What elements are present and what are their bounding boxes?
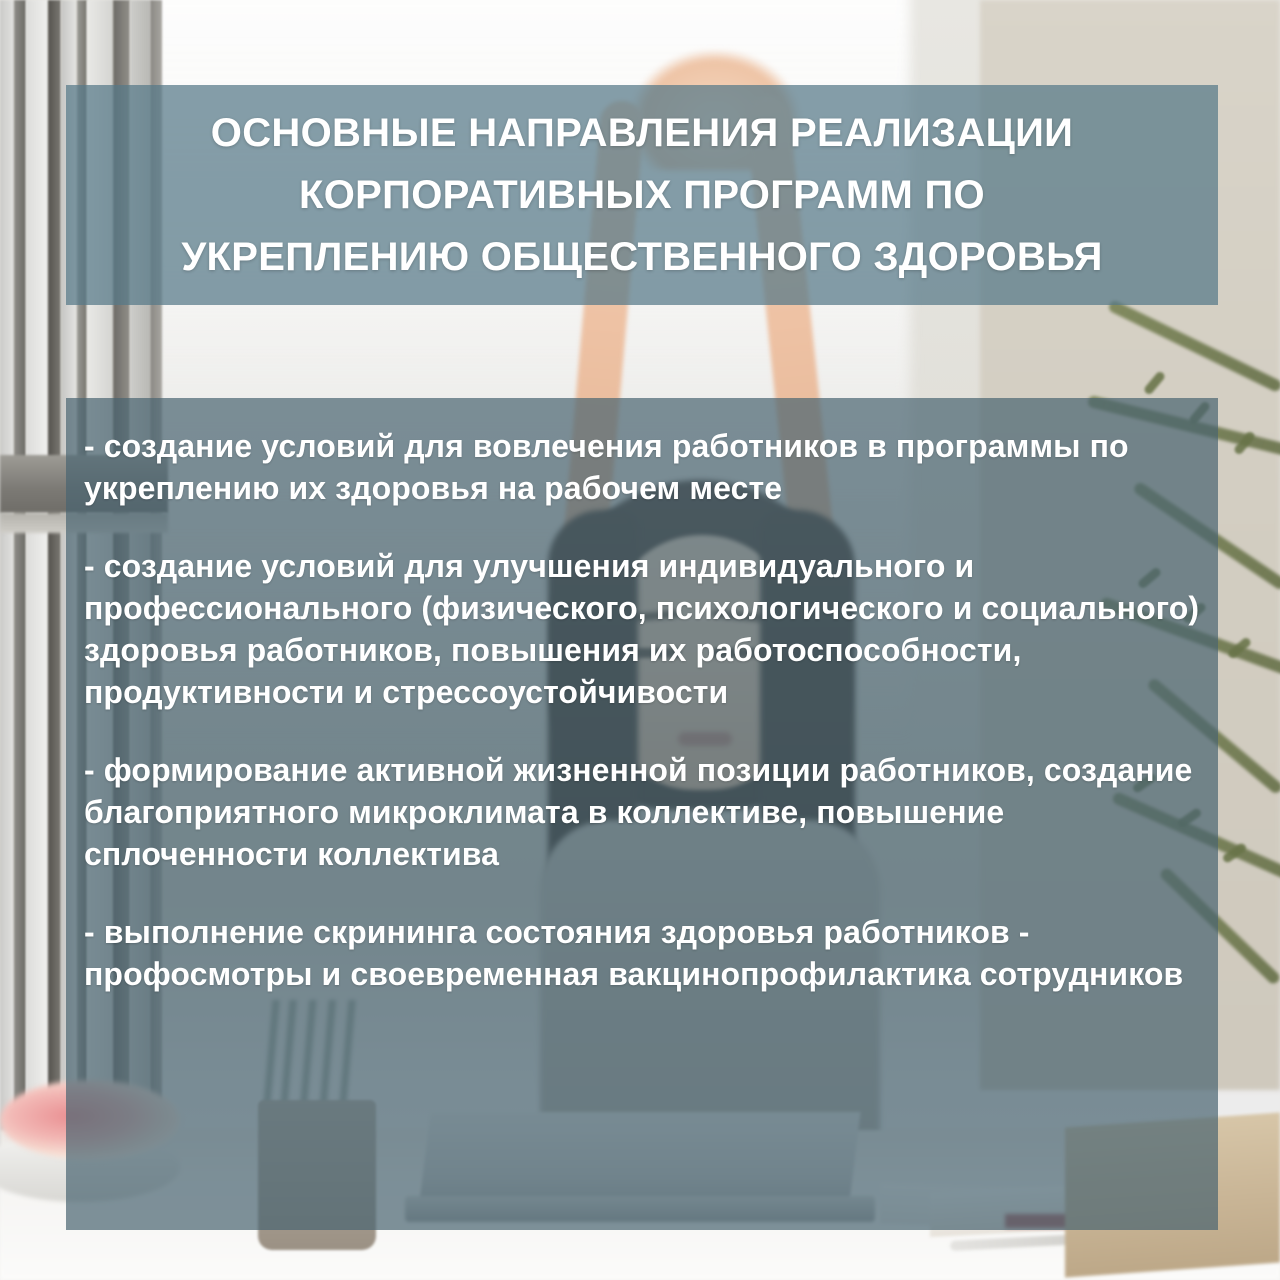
bullet-item: - выполнение скрининга состояния здоровь…: [84, 911, 1204, 995]
bullet-item: - формирование активной жизненной позици…: [84, 749, 1204, 875]
bullet-item: - создание условий для вовлечения работн…: [84, 425, 1204, 509]
title-line-1: ОСНОВНЫЕ НАПРАВЛЕНИЯ РЕАЛИЗАЦИИ: [211, 102, 1073, 164]
bullet-item: - создание условий для улучшения индивид…: [84, 545, 1204, 713]
title-line-2: КОРПОРАТИВНЫХ ПРОГРАММ ПО: [299, 164, 985, 226]
poster-canvas: ОСНОВНЫЕ НАПРАВЛЕНИЯ РЕАЛИЗАЦИИ КОРПОРАТ…: [0, 0, 1280, 1280]
title-line-3: УКРЕПЛЕНИЮ ОБЩЕСТВЕННОГО ЗДОРОВЬЯ: [181, 226, 1102, 288]
bullet-list: - создание условий для вовлечения работн…: [84, 425, 1204, 995]
page-title: ОСНОВНЫЕ НАПРАВЛЕНИЯ РЕАЛИЗАЦИИ КОРПОРАТ…: [66, 85, 1218, 305]
